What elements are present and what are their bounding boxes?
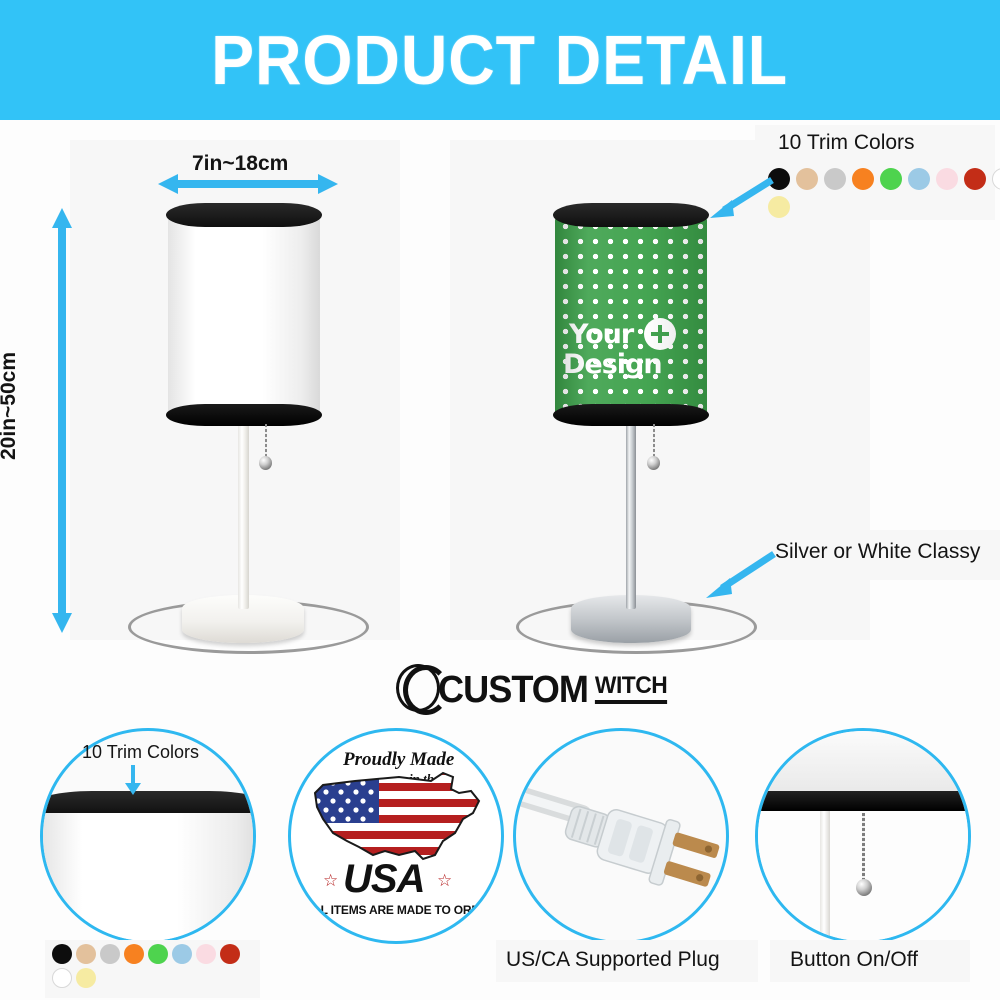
arrow-icon <box>706 176 776 222</box>
trim-swatch-white[interactable] <box>52 968 72 988</box>
switch-shade-body <box>755 731 971 793</box>
usa-badge-sub: ALL ITEMS ARE MADE TO ORDER! <box>305 903 500 917</box>
trim-swatch-pink[interactable] <box>936 168 958 190</box>
trim-swatch-gray[interactable] <box>824 168 846 190</box>
trim-colors-label: 10 Trim Colors <box>778 131 915 155</box>
trim-swatch-gray[interactable] <box>100 944 120 964</box>
logo-text-witch: WITCH <box>595 674 667 704</box>
usa-star-left-icon: ☆ <box>323 871 338 891</box>
brand-logo: CUSTOM WITCH <box>396 664 669 708</box>
switch-pull-chain[interactable] <box>862 813 865 883</box>
trim-swatch-red[interactable] <box>220 944 240 964</box>
height-dimension-label: 20in~50cm <box>0 352 21 460</box>
arrow-down-icon <box>118 763 148 799</box>
right-lamp-pole <box>626 424 636 609</box>
trim-swatch-orange[interactable] <box>124 944 144 964</box>
switch-chain-bead[interactable] <box>856 879 872 896</box>
left-lamp-pole <box>238 424 249 609</box>
trim-swatch-red[interactable] <box>964 168 986 190</box>
trim-swatch-yellow[interactable] <box>76 968 96 988</box>
power-plug-icon <box>516 731 726 941</box>
feature-circle-switch <box>755 728 971 944</box>
trim-swatch-light-blue[interactable] <box>172 944 192 964</box>
trim-pointer-arrow <box>706 176 766 216</box>
trim-swatch-tan[interactable] <box>796 168 818 190</box>
header-banner: PRODUCT DETAIL <box>0 0 1000 120</box>
right-lamp-chain-bead[interactable] <box>647 456 660 470</box>
left-lamp-chain-bead[interactable] <box>259 456 272 470</box>
trim-swatch-pink[interactable] <box>196 944 216 964</box>
finish-pointer-arrow <box>700 548 772 598</box>
left-lamp-pull-chain[interactable] <box>265 424 267 460</box>
usa-badge-big: USA <box>343 857 424 902</box>
trim-swatch-light-blue[interactable] <box>908 168 930 190</box>
switch-trim-band <box>755 791 971 811</box>
trim-color-swatches-top[interactable] <box>768 168 1000 218</box>
right-lamp-pull-chain[interactable] <box>653 424 655 460</box>
trim-swatch-white[interactable] <box>992 168 1000 190</box>
logo-text-custom: CUSTOM <box>438 672 588 708</box>
trim-swatch-tan[interactable] <box>76 944 96 964</box>
switch-pole <box>820 811 830 941</box>
logo-c-icon <box>396 664 440 708</box>
feature-label-switch: Button On/Off <box>790 948 918 972</box>
usa-star-right-icon: ☆ <box>437 871 452 891</box>
shade-sample-body <box>40 813 256 944</box>
infographic-canvas: PRODUCT DETAIL 7in~18cm 20in~50cm <box>0 0 1000 1000</box>
trim-color-swatches-bottom[interactable] <box>52 944 260 988</box>
trim-colors-down-arrow <box>118 763 148 804</box>
feature-circle-plug <box>513 728 729 944</box>
feature-label-plug: US/CA Supported Plug <box>506 948 720 972</box>
feature-label-trim-colors: 10 Trim Colors <box>82 742 199 763</box>
page-title: PRODUCT DETAIL <box>212 25 789 95</box>
left-shade-bottom-trim <box>166 404 322 426</box>
trim-swatch-orange[interactable] <box>852 168 874 190</box>
finish-callout-label: Silver or White Classy <box>775 540 980 564</box>
feature-circle-made-in-usa: Proudly Made in the <box>288 728 504 944</box>
width-dimension-label: 7in~18cm <box>192 152 288 176</box>
right-shade-top-trim <box>553 203 709 227</box>
trim-swatch-green[interactable] <box>148 944 168 964</box>
right-shade-bottom-trim <box>553 404 709 426</box>
left-shade-top-trim <box>166 203 322 227</box>
arrow-icon <box>700 548 778 602</box>
trim-swatch-green[interactable] <box>880 168 902 190</box>
trim-swatch-black[interactable] <box>52 944 72 964</box>
